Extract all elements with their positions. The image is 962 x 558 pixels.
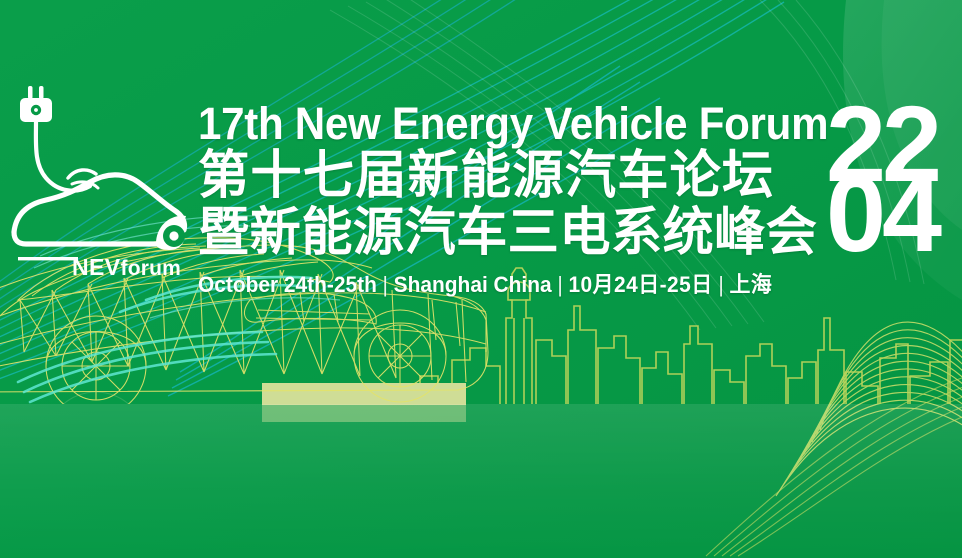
lime-swoosh-lines-2 xyxy=(706,372,962,556)
date-chinese: 10月24日-25日 xyxy=(568,272,712,297)
year-mark-2024: 2 0 2 4 xyxy=(842,108,958,304)
year-digit-3: 2 xyxy=(826,94,886,194)
year-digit-4: 4 xyxy=(882,164,942,264)
logo-wordmark-bold: NEV xyxy=(72,254,121,280)
date-location-line: October 24th-25th|Shanghai China|10月24日-… xyxy=(198,272,806,298)
logo-wordmark: NEVforum xyxy=(72,254,181,281)
nev-forum-logo[interactable]: NEVforum xyxy=(6,72,192,220)
location-english: Shanghai China xyxy=(394,272,552,297)
headline-block: 17th New Energy Vehicle Forum 第十七届新能源汽车论… xyxy=(198,100,838,298)
separator-1: | xyxy=(377,272,394,297)
logo-wordmark-light: forum xyxy=(121,257,182,280)
separator-2: | xyxy=(552,272,569,297)
title-chinese-line2: 暨新能源汽车三电系统峰会 xyxy=(198,205,828,262)
title-english: 17th New Energy Vehicle Forum xyxy=(198,100,796,148)
separator-3: | xyxy=(713,272,730,297)
date-english: October 24th-25th xyxy=(198,272,377,297)
lime-swoosh-lines xyxy=(776,322,962,496)
accent-bar xyxy=(262,383,466,422)
title-chinese-line1: 第十七届新能源汽车论坛 xyxy=(198,148,828,205)
location-chinese: 上海 xyxy=(729,272,772,297)
poster-canvas: NEVforum 17th New Energy Vehicle Forum 第… xyxy=(0,0,962,558)
city-skyline-reflection xyxy=(452,404,908,526)
car-wireframe-reflection xyxy=(0,392,488,558)
